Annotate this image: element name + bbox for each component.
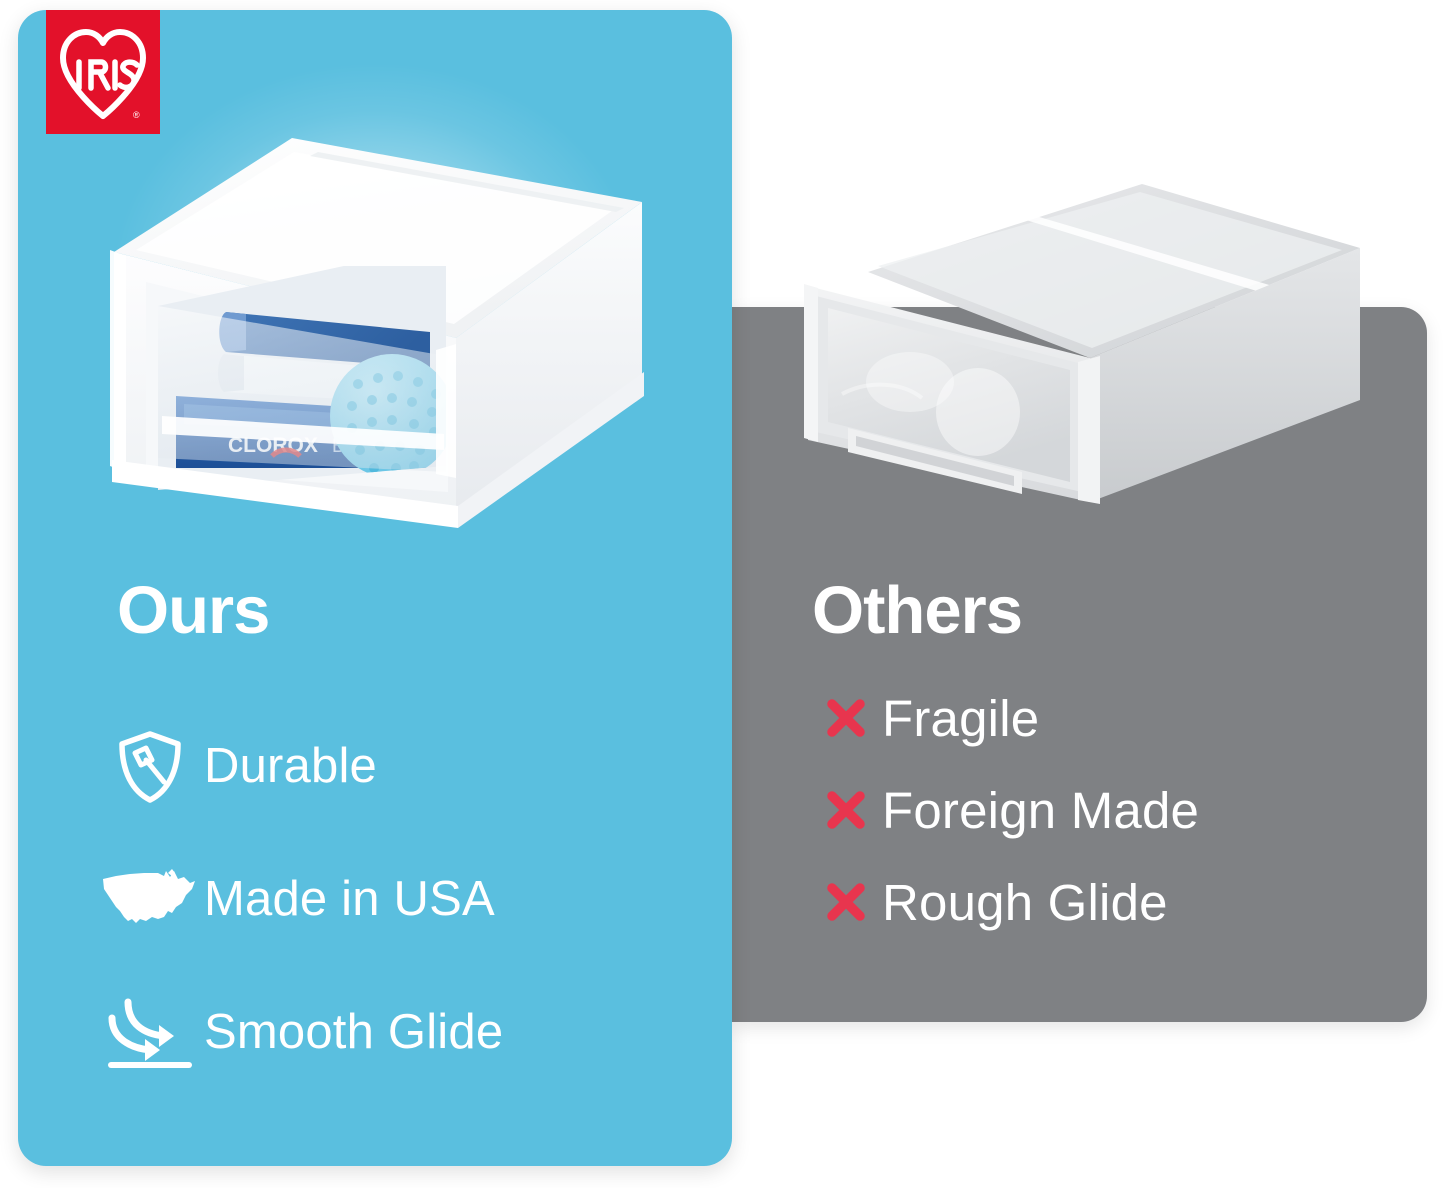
ours-product-image: CLOROX Bleach (96, 116, 652, 536)
x-mark-icon (810, 872, 882, 932)
others-feature-foreign-made: Foreign Made (810, 764, 1430, 856)
ours-heading: Ours (117, 577, 269, 644)
ours-feature-list: Durable Made in USA (96, 700, 696, 1099)
ours-feature-made-in-usa: Made in USA (96, 833, 696, 966)
comparison-infographic: Others Fragile Foreign Made (0, 0, 1445, 1188)
others-feature-rough-glide: Rough Glide (810, 856, 1430, 948)
others-feature-label: Fragile (882, 693, 1039, 744)
shield-hammer-icon (96, 721, 204, 813)
ours-feature-smooth-glide: Smooth Glide (96, 966, 696, 1099)
others-feature-label: Foreign Made (882, 785, 1199, 836)
smooth-glide-arrows-icon (96, 987, 204, 1079)
ours-feature-label: Smooth Glide (204, 1008, 503, 1057)
ours-feature-durable: Durable (96, 700, 696, 833)
others-feature-label: Rough Glide (882, 877, 1168, 928)
usa-map-icon (96, 854, 204, 946)
ours-feature-label: Durable (204, 742, 377, 791)
ours-feature-label: Made in USA (204, 875, 495, 924)
others-feature-fragile: Fragile (810, 672, 1430, 764)
others-heading: Others (812, 577, 1022, 644)
others-product-image (782, 176, 1370, 528)
x-mark-icon (810, 780, 882, 840)
x-mark-icon (810, 688, 882, 748)
others-feature-list: Fragile Foreign Made Rough Glide (810, 672, 1430, 948)
